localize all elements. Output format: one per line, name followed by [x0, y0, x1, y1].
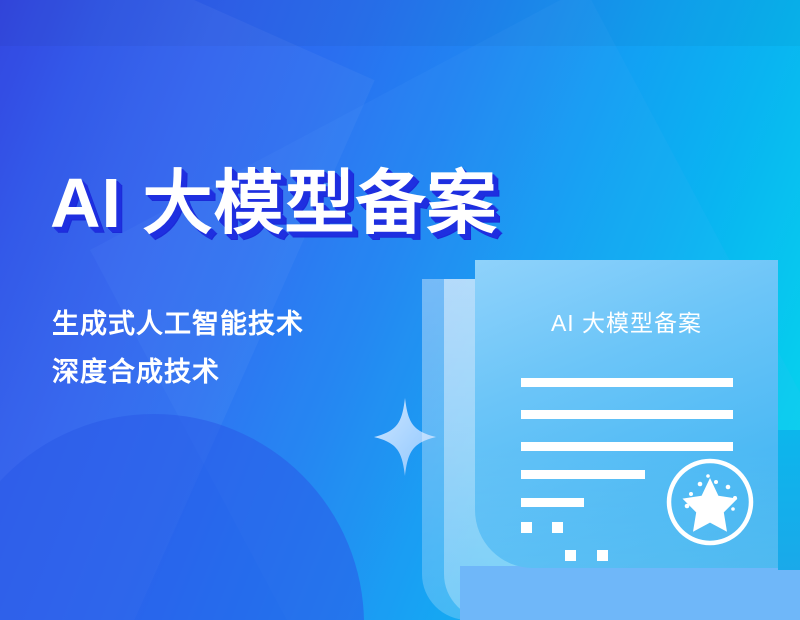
doc-square-mark [552, 522, 563, 533]
doc-line [521, 442, 733, 451]
subtitle-line-2: 深度合成技术 [52, 348, 304, 396]
banner-root: AI 大模型备案 生成式人工智能技术 深度合成技术 AI 大模型备案 [0, 0, 800, 620]
subtitle-block: 生成式人工智能技术 深度合成技术 [52, 300, 304, 396]
certificate-card: AI 大模型备案 [475, 260, 778, 568]
doc-line [521, 470, 645, 479]
doc-line [521, 378, 733, 387]
card-plate-behind [460, 566, 800, 620]
doc-square-mark [597, 550, 608, 561]
page-title: AI 大模型备案 [50, 168, 497, 238]
doc-line [521, 410, 733, 419]
star-seal-icon [664, 456, 756, 548]
subtitle-line-1: 生成式人工智能技术 [52, 300, 304, 348]
card-title: AI 大模型备案 [475, 304, 778, 338]
doc-square-mark [521, 522, 532, 533]
doc-line [521, 498, 584, 507]
doc-square-mark [565, 550, 576, 561]
right-edge-accent [778, 430, 800, 570]
